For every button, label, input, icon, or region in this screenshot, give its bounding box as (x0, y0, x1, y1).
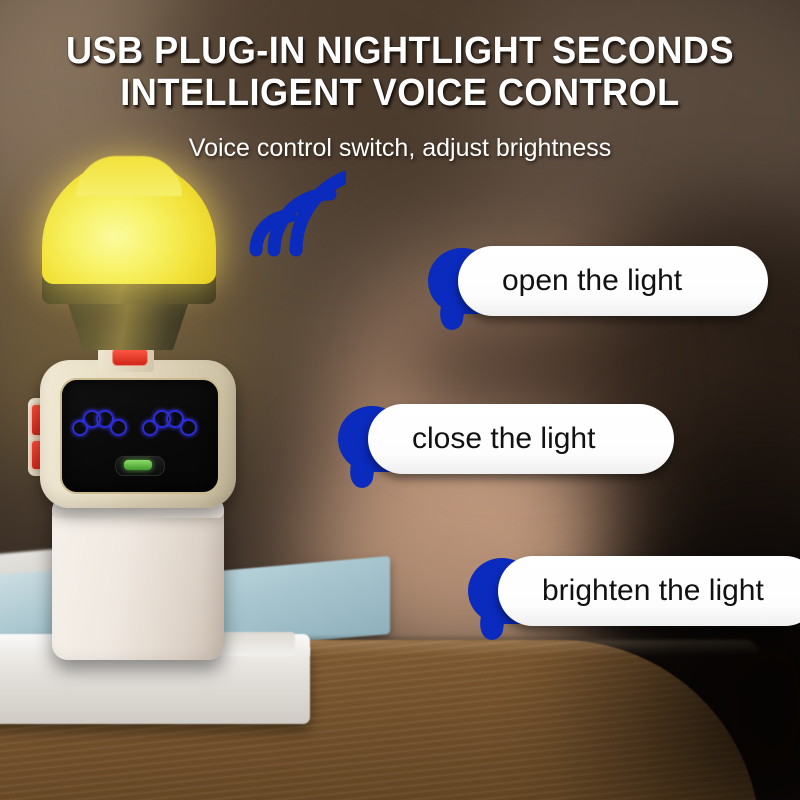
voice-command-label: open the light (458, 264, 716, 298)
usb-plug-body (52, 500, 224, 660)
power-button[interactable] (112, 348, 148, 366)
speech-bubble-body: brighten the light (498, 556, 800, 626)
voice-command-label: brighten the light (498, 574, 798, 608)
headline-line-1: USB PLUG-IN NIGHTLIGHT SECONDS (20, 30, 780, 72)
robot-left-eye (72, 404, 134, 438)
robot-right-eye (142, 404, 204, 438)
subtitle: Voice control switch, adjust brightness (0, 134, 800, 163)
headline: USB PLUG-IN NIGHTLIGHT SECONDS INTELLIGE… (20, 30, 780, 114)
eye-circle (110, 419, 127, 436)
eye-circle (180, 419, 197, 436)
speech-bubble-body: close the light (368, 404, 674, 474)
green-indicator-led (124, 460, 152, 470)
speech-bubble-body: open the light (458, 246, 768, 316)
product-advertisement-image: T (0, 0, 800, 800)
voice-signal-waves-icon (246, 166, 346, 258)
headline-line-2: INTELLIGENT VOICE CONTROL (20, 72, 780, 114)
table-shadow-area (520, 618, 800, 800)
voice-command-label: close the light (368, 422, 629, 456)
